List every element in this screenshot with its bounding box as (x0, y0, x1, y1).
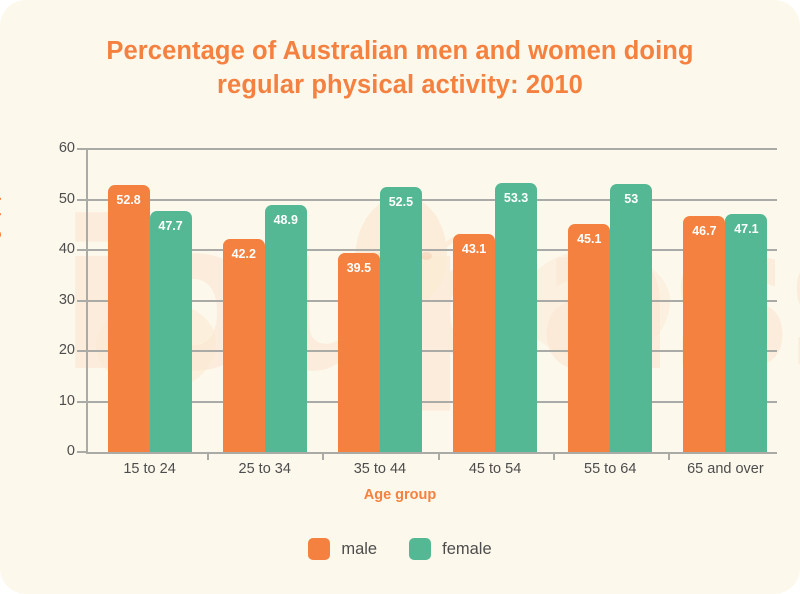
legend-swatch-male (308, 538, 330, 560)
y-axis-tick (77, 300, 86, 302)
y-axis-tick (77, 199, 86, 201)
legend-item-male[interactable]: male (308, 538, 377, 560)
x-axis-tick (207, 452, 209, 460)
y-axis-tick-label: 30 (35, 292, 75, 308)
y-axis-tick (77, 148, 86, 150)
legend-item-female[interactable]: female (409, 538, 492, 560)
bar-male-15-to-24[interactable]: 52.8 (108, 185, 150, 452)
chart-card: ioupass Percentage of Australian men and… (0, 0, 800, 594)
plot-area: 0102030405060 52.847.742.248.939.552.543… (86, 149, 777, 452)
bar-female-65-and-over[interactable]: 47.1 (725, 214, 767, 452)
bar-value-label: 42.2 (223, 247, 265, 261)
chart-title: Percentage of Australian men and women d… (0, 34, 800, 102)
y-axis-tick (77, 401, 86, 403)
x-axis-tick (553, 452, 555, 460)
y-axis-tick (77, 451, 86, 453)
bar-male-55-to-64[interactable]: 45.1 (568, 224, 610, 452)
x-axis-tick (438, 452, 440, 460)
y-axis-tick (77, 249, 86, 251)
bar-value-label: 52.5 (380, 195, 422, 209)
x-axis-tick (668, 452, 670, 460)
x-axis-tick (322, 452, 324, 460)
y-axis-tick-label: 60 (35, 140, 75, 156)
y-axis-tick-label: 10 (35, 393, 75, 409)
bar-female-45-to-54[interactable]: 53.3 (495, 183, 537, 452)
y-axis-tick-label: 0 (35, 443, 75, 459)
x-axis-line (86, 452, 777, 454)
bar-value-label: 43.1 (453, 242, 495, 256)
gridline (86, 199, 777, 201)
bar-male-35-to-44[interactable]: 39.5 (338, 253, 380, 452)
x-axis-title: Age group (0, 487, 800, 503)
bar-value-label: 53 (610, 192, 652, 206)
y-axis-tick-label: 50 (35, 191, 75, 207)
legend: malefemale (0, 538, 800, 560)
legend-swatch-female (409, 538, 431, 560)
x-axis-label-65-and-over: 65 and over (668, 461, 783, 477)
bar-value-label: 47.7 (150, 219, 192, 233)
x-axis-label-35-to-44: 35 to 44 (322, 461, 437, 477)
bar-value-label: 39.5 (338, 261, 380, 275)
legend-label-male: male (341, 540, 377, 559)
chart-title-line-1: Percentage of Australian men and women d… (0, 34, 800, 68)
bar-value-label: 45.1 (568, 232, 610, 246)
bar-female-55-to-64[interactable]: 53 (610, 184, 652, 452)
bar-value-label: 47.1 (725, 222, 767, 236)
x-axis-label-15-to-24: 15 to 24 (92, 461, 207, 477)
x-axis-label-45-to-54: 45 to 54 (438, 461, 553, 477)
x-axis-label-25-to-34: 25 to 34 (207, 461, 322, 477)
y-axis-tick-label: 20 (35, 342, 75, 358)
bar-value-label: 46.7 (683, 224, 725, 238)
bar-female-35-to-44[interactable]: 52.5 (380, 187, 422, 452)
x-axis-label-55-to-64: 55 to 64 (553, 461, 668, 477)
bar-value-label: 52.8 (108, 193, 150, 207)
bar-male-45-to-54[interactable]: 43.1 (453, 234, 495, 452)
gridline (86, 148, 777, 150)
y-axis-title: Percentage (%) (0, 195, 2, 300)
bar-value-label: 53.3 (495, 191, 537, 205)
y-axis-tick (77, 350, 86, 352)
chart-title-line-2: regular physical activity: 2010 (0, 68, 800, 102)
bar-female-15-to-24[interactable]: 47.7 (150, 211, 192, 452)
legend-label-female: female (442, 540, 492, 559)
bar-value-label: 48.9 (265, 213, 307, 227)
bar-male-65-and-over[interactable]: 46.7 (683, 216, 725, 452)
bar-male-25-to-34[interactable]: 42.2 (223, 239, 265, 452)
y-axis-tick-label: 40 (35, 241, 75, 257)
bar-female-25-to-34[interactable]: 48.9 (265, 205, 307, 452)
